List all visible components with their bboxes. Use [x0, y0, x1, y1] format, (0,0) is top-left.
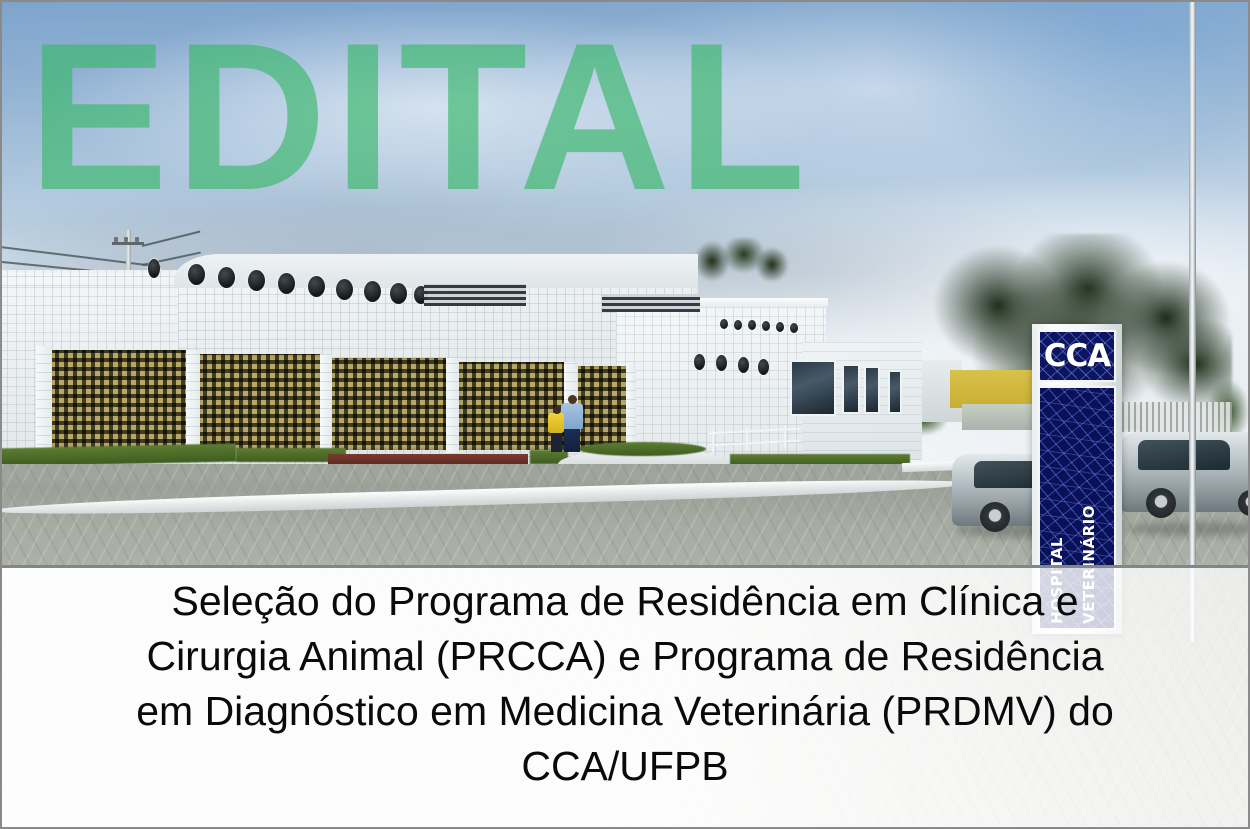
caption-line-2: Cirurgia Animal (PRCCA) e Programa de Re… — [146, 629, 1103, 684]
person-adult — [564, 428, 580, 452]
planter-vegetation — [578, 442, 706, 456]
brise-soleil-panel — [576, 366, 628, 450]
porthole-window — [248, 270, 265, 291]
blue-sky-patch — [824, 2, 1248, 250]
porthole-window — [188, 264, 205, 285]
person-child — [551, 432, 562, 452]
louver-vent — [602, 294, 700, 312]
entrance-glazing — [864, 366, 880, 414]
insulator — [124, 237, 128, 242]
caption-line-4: CCA/UFPB — [521, 739, 728, 794]
railing-post — [746, 428, 748, 450]
railing-post — [784, 426, 786, 448]
porthole-window — [720, 319, 728, 329]
insulator — [114, 237, 118, 242]
person-adult — [568, 395, 577, 404]
brise-soleil-panel — [198, 354, 322, 450]
caption-line-1: Seleção do Programa de Residência em Clí… — [171, 574, 1078, 629]
brise-soleil-panel — [50, 350, 188, 448]
entrance-glazing — [888, 370, 902, 414]
fence — [1122, 402, 1232, 432]
porthole-window — [776, 322, 784, 332]
porthole-window — [694, 354, 705, 370]
porthole-window — [364, 281, 381, 302]
sign-cca-label: CCA — [1044, 341, 1111, 372]
caption-line-3: em Diagnóstico em Medicina Veterinária (… — [136, 684, 1114, 739]
porthole-window — [308, 276, 325, 297]
entrance-glazing — [790, 360, 836, 416]
porthole-window — [790, 323, 798, 333]
facade-pillar — [36, 346, 52, 454]
yellow-building — [950, 370, 1036, 408]
porthole-window — [390, 283, 407, 304]
porthole-window — [716, 355, 727, 371]
palm-tree — [692, 238, 792, 296]
porthole-window — [758, 359, 769, 375]
porthole-window — [278, 273, 295, 294]
caption-panel: Seleção do Programa de Residência em Clí… — [2, 565, 1248, 827]
flagpole — [1189, 2, 1196, 642]
facade-pillar — [320, 354, 332, 454]
louver-vent — [424, 284, 526, 306]
entrance-glazing — [842, 364, 860, 414]
car-wheel — [980, 502, 1010, 532]
porthole-window — [762, 321, 770, 331]
porthole-window — [738, 357, 749, 373]
parked-car — [1120, 432, 1248, 512]
porthole-window — [734, 320, 742, 330]
brise-soleil-panel — [458, 362, 566, 450]
porthole-window — [748, 320, 756, 330]
person-adult — [561, 403, 583, 429]
facade-pillar — [186, 350, 200, 454]
pole-crossarm — [112, 242, 144, 245]
porthole-window — [148, 259, 160, 278]
facade-pillar — [626, 364, 636, 454]
insulator — [135, 237, 139, 242]
sign-top-panel: CCA — [1038, 330, 1116, 382]
person-child — [553, 406, 561, 414]
car-wheel — [1146, 488, 1176, 518]
brise-soleil-panel — [330, 358, 448, 450]
person-child — [548, 413, 564, 433]
car-window — [1138, 440, 1230, 470]
railing-post — [712, 430, 714, 452]
edital-poster: CCA HOSPITAL VETERINÁRIO EDITAL Seleção … — [0, 0, 1250, 829]
porthole-window — [218, 267, 235, 288]
porthole-window — [336, 279, 353, 300]
facade-pillar — [446, 358, 459, 454]
